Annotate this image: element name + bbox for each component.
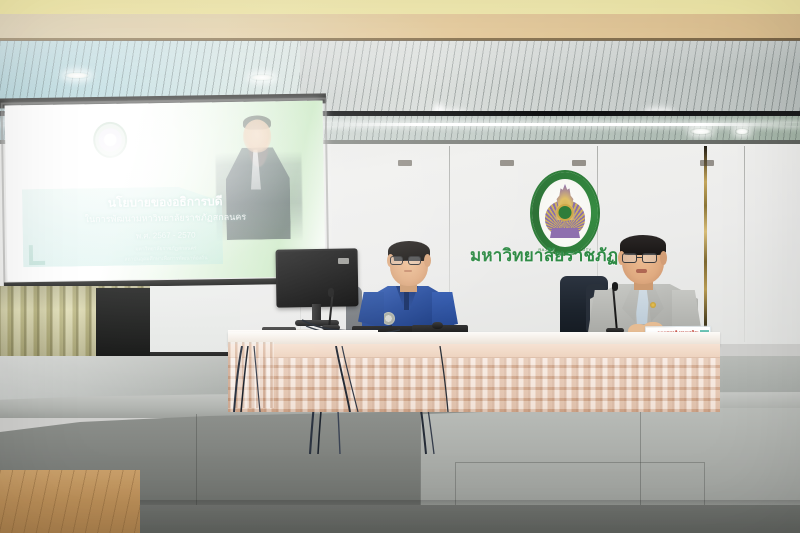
ceiling-downlight — [735, 128, 749, 135]
wall-panel-seam — [744, 146, 745, 342]
ceiling-downlight — [250, 74, 274, 81]
wall-bracket — [500, 160, 514, 166]
side-doorway — [96, 288, 152, 364]
ceiling-beam — [0, 14, 800, 40]
polo-placket — [404, 292, 409, 310]
mouse[interactable] — [432, 322, 443, 329]
wall-bracket — [700, 160, 714, 166]
wall-bracket — [398, 160, 412, 166]
glasses-icon — [622, 253, 665, 264]
monitor-label — [338, 258, 349, 264]
fluorescent-strip-light — [318, 123, 800, 126]
glasses-icon — [390, 256, 429, 267]
lapel-pin-icon — [650, 302, 656, 308]
wood-grain — [0, 470, 140, 533]
mouth — [404, 270, 412, 272]
cables-over-skirt — [228, 346, 508, 412]
slat-gloss — [300, 41, 800, 113]
microphone-head-left — [328, 288, 334, 297]
ceiling-downlight — [64, 72, 90, 79]
slatted-ceiling-right — [300, 41, 800, 113]
mouth-speaking — [636, 269, 647, 273]
wood-floor — [0, 470, 140, 533]
stage-panel-seam — [196, 414, 197, 509]
seal-center-medallion — [557, 204, 574, 221]
ceiling-downlight — [690, 128, 712, 135]
seal-pedestal — [550, 228, 580, 238]
seal-text-top: SAKON NAKHON — [530, 175, 600, 180]
microphone-head-right — [612, 282, 618, 291]
hair — [620, 235, 666, 255]
wall-bracket — [572, 160, 586, 166]
conference-room-photo: SAKON NAKHON RAJABHAT UNIVERSITY มหาวิทย… — [0, 0, 800, 533]
